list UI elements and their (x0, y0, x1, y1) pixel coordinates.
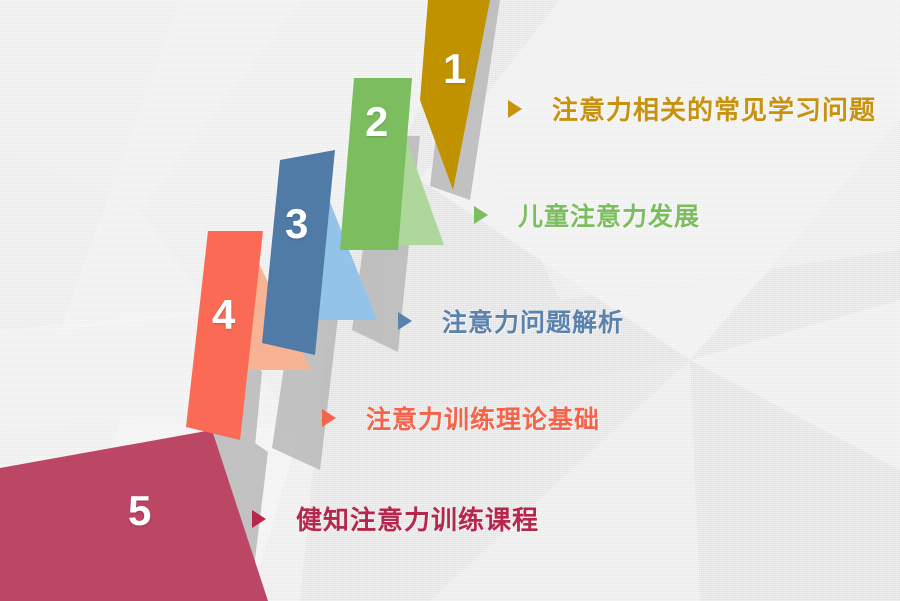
agenda-item-4[interactable]: 注意力训练理论基础 (322, 400, 600, 436)
agenda-item-4-label: 注意力训练理论基础 (366, 400, 600, 436)
agenda-item-5[interactable]: 健知注意力训练课程 (252, 500, 539, 537)
agenda-item-2-label: 儿童注意力发展 (518, 197, 700, 233)
agenda-item-1[interactable]: 注意力相关的常见学习问题 (508, 90, 876, 127)
slide-canvas: 1 2 3 4 5 注意力相关的常见学习问题 儿童注意力发展 注意力问题解析 注… (0, 0, 900, 601)
step-number-4: 4 (212, 291, 235, 339)
triangle-right-icon (474, 206, 488, 224)
step-number-1: 1 (443, 45, 466, 93)
agenda-item-2[interactable]: 儿童注意力发展 (474, 197, 700, 233)
triangle-right-icon (322, 409, 336, 427)
agenda-item-5-label: 健知注意力训练课程 (296, 500, 539, 537)
step-number-5: 5 (128, 487, 151, 535)
step-number-3: 3 (285, 200, 308, 248)
triangle-right-icon (252, 510, 266, 528)
triangle-right-icon (508, 100, 522, 118)
agenda-item-3-label: 注意力问题解析 (442, 303, 624, 339)
agenda-item-1-label: 注意力相关的常见学习问题 (552, 90, 876, 127)
agenda-item-3[interactable]: 注意力问题解析 (398, 303, 624, 339)
step-number-2: 2 (365, 98, 388, 146)
triangle-right-icon (398, 312, 412, 330)
